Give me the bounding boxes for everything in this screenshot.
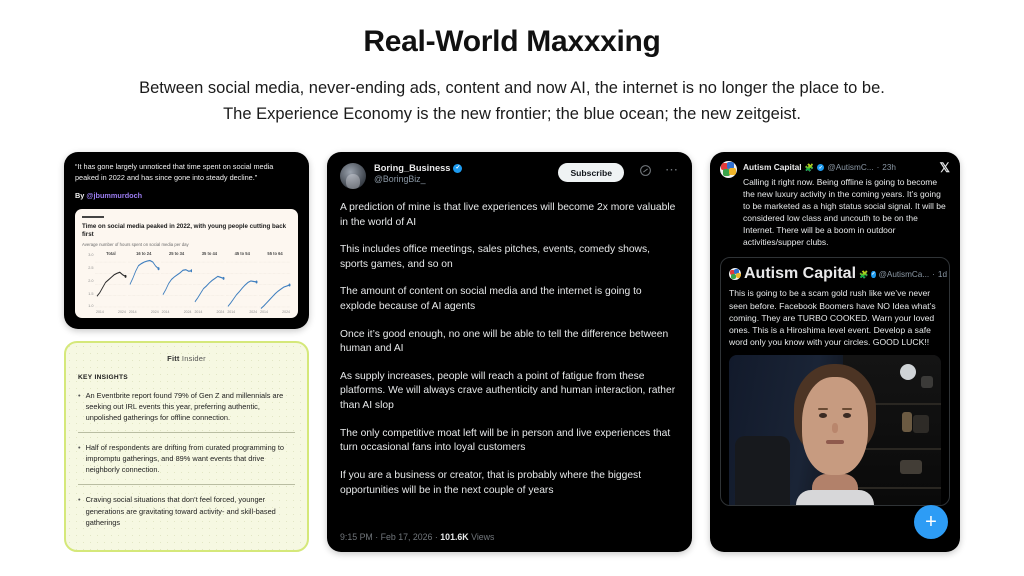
chart-subtitle: Average number of hours spent on social … bbox=[82, 242, 291, 247]
person bbox=[786, 361, 884, 505]
y-tick-1: 2.5 bbox=[88, 266, 93, 270]
compose-fab-button[interactable]: + bbox=[914, 505, 948, 539]
panel-title: Total bbox=[95, 251, 127, 258]
x-tick-end: 2024 bbox=[151, 310, 159, 314]
puzzle-piece-icon: 🧩 bbox=[805, 163, 814, 172]
x-tick-start: 2014 bbox=[194, 310, 202, 314]
tweet-date: Feb 17, 2026 bbox=[381, 532, 433, 542]
eye bbox=[819, 413, 827, 418]
shelf-object bbox=[913, 415, 929, 433]
dot-sep: · bbox=[932, 270, 935, 279]
right-tweet-author-block: Autism Capital 🧩 ✓ @AutismC... · 23h 𝕏 C… bbox=[743, 161, 950, 248]
tweet-paragraph: This includes office meetings, sales pit… bbox=[340, 243, 679, 272]
byline-handle[interactable]: @jbummurdoch bbox=[86, 191, 142, 200]
chart-panel-55-64: 55 to 64 bbox=[259, 251, 291, 314]
y-tick-4: 1.0 bbox=[88, 304, 93, 308]
eyebrow bbox=[842, 408, 852, 411]
panel-title: 55 to 64 bbox=[259, 251, 291, 258]
header: Real-World Maxxxing Between social media… bbox=[0, 0, 1024, 127]
verified-badge-icon: ✓ bbox=[871, 271, 875, 279]
avatar-piece bbox=[729, 168, 736, 175]
panel-plot bbox=[128, 258, 160, 309]
x-tick-start: 2014 bbox=[162, 310, 170, 314]
shelf-object bbox=[900, 364, 916, 380]
chart-panel-35-44: 35 to 44 bbox=[193, 251, 225, 314]
tweet-paragraph: As supply increases, people will reach a… bbox=[340, 370, 679, 414]
chart-title: Time on social media peaked in 2022, wit… bbox=[82, 223, 291, 239]
insight-bullet: • Half of respondents are drifting from … bbox=[78, 442, 295, 475]
avatar-piece bbox=[736, 273, 741, 278]
panel-plot bbox=[226, 258, 258, 309]
tweet-paragraph: The amount of content on social media an… bbox=[340, 285, 679, 314]
puzzle-piece-icon: 🧩 bbox=[859, 270, 868, 279]
subtitle-line-2: The Experience Economy is the new fronti… bbox=[0, 102, 1024, 128]
brand-bold: Fitt bbox=[167, 354, 179, 363]
x-tick-end: 2024 bbox=[217, 310, 225, 314]
y-tick-0: 3.0 bbox=[88, 253, 93, 257]
insight-text: An Eventbrite report found 79% of Gen Z … bbox=[86, 390, 295, 423]
chair bbox=[735, 436, 790, 505]
panel-x-labels: 2014 2024 bbox=[128, 309, 160, 314]
panel-plot bbox=[259, 258, 291, 309]
media-scene bbox=[729, 355, 941, 505]
panel-x-labels: 2014 2024 bbox=[259, 309, 291, 314]
x-tick-end: 2024 bbox=[118, 310, 126, 314]
tweet-paragraph: The only competitive moat left will be i… bbox=[340, 427, 679, 456]
panel-x-labels: 2014 2024 bbox=[226, 309, 258, 314]
fitt-insider-brand: Fitt Insider bbox=[78, 354, 295, 363]
bullet-dot-icon: • bbox=[78, 442, 81, 475]
chart-panel-16-24: 16 to 24 bbox=[128, 251, 160, 314]
tweet-paragraph: Once it’s good enough, no one will be ab… bbox=[340, 328, 679, 357]
x-tick-end: 2024 bbox=[184, 310, 192, 314]
tweet-body: A prediction of mine is that live experi… bbox=[340, 201, 679, 528]
tweet-header: Boring_Business ✓ @BoringBiz_ Subscribe … bbox=[340, 163, 679, 189]
dot-sep: · bbox=[877, 163, 880, 173]
byline-prefix: By bbox=[75, 191, 84, 200]
panel-x-labels: 2014 2024 bbox=[95, 309, 127, 314]
brand-light: Insider bbox=[182, 354, 206, 363]
x-tick-end: 2024 bbox=[249, 310, 257, 314]
right-tweet-handle: @AutismC... bbox=[827, 163, 873, 173]
avatar[interactable] bbox=[729, 268, 741, 280]
quote-chart-card: “It has gone largely unnoticed that time… bbox=[64, 152, 309, 329]
chart-panel-25-34: 25 to 34 bbox=[161, 251, 193, 314]
panel-plot bbox=[193, 258, 225, 309]
shirt bbox=[796, 490, 874, 506]
left-column: “It has gone largely unnoticed that time… bbox=[64, 152, 309, 552]
nose bbox=[832, 423, 839, 433]
panel-plot bbox=[95, 258, 127, 309]
chart-panel-45-54: 45 to 54 bbox=[226, 251, 258, 314]
panel-title: 35 to 44 bbox=[193, 251, 225, 258]
panel-x-labels: 2014 2024 bbox=[193, 309, 225, 314]
right-tweet-header: Autism Capital 🧩 ✓ @AutismC... · 23h 𝕏 C… bbox=[720, 161, 950, 248]
key-insights-label: KEY INSIGHTS bbox=[78, 374, 295, 381]
subtitle-line-1: Between social media, never-ending ads, … bbox=[0, 76, 1024, 102]
shelf-object bbox=[921, 376, 933, 388]
insight-bullet: • An Eventbrite report found 79% of Gen … bbox=[78, 390, 295, 423]
page-title: Real-World Maxxxing bbox=[0, 24, 1024, 60]
panel-x-labels: 2014 2024 bbox=[161, 309, 193, 314]
chart-panel: Time on social media peaked in 2022, wit… bbox=[75, 209, 298, 318]
right-tweet-name-row: Autism Capital 🧩 ✓ @AutismC... · 23h 𝕏 bbox=[743, 161, 950, 174]
slide-root: Real-World Maxxxing Between social media… bbox=[0, 0, 1024, 576]
verified-badge-icon: ✓ bbox=[817, 164, 825, 172]
insight-text: Half of respondents are drifting from cu… bbox=[86, 442, 295, 475]
tweet-paragraph: A prediction of mine is that live experi… bbox=[340, 201, 679, 230]
x-tick-start: 2014 bbox=[96, 310, 104, 314]
avatar[interactable] bbox=[340, 163, 366, 189]
shelf-object bbox=[902, 412, 912, 432]
quoted-display-name: Autism Capital bbox=[744, 265, 856, 283]
quoted-media-video[interactable] bbox=[729, 355, 941, 505]
mouth bbox=[826, 440, 843, 444]
fitt-insider-card: Fitt Insider KEY INSIGHTS • An Eventbrit… bbox=[64, 341, 309, 552]
panel-plot bbox=[161, 258, 193, 309]
panel-title: 25 to 34 bbox=[161, 251, 193, 258]
chart-rule bbox=[82, 216, 104, 218]
shelf-object bbox=[900, 460, 922, 474]
insight-text: Craving social situations that don’t fee… bbox=[86, 494, 295, 527]
quoted-tweet[interactable]: Autism Capital 🧩 ✓ @AutismCa... · 1d Thi… bbox=[720, 257, 950, 506]
x-logo-icon[interactable]: 𝕏 bbox=[936, 161, 950, 174]
face bbox=[802, 377, 868, 475]
right-tweet-card: Autism Capital 🧩 ✓ @AutismC... · 23h 𝕏 C… bbox=[710, 152, 960, 552]
insight-bullet: • Craving social situations that don’t f… bbox=[78, 494, 295, 527]
avatar[interactable] bbox=[720, 161, 737, 178]
tweet-display-name-row: Boring_Business ✓ bbox=[374, 163, 550, 173]
tweet-views-label: Views bbox=[471, 532, 494, 542]
grok-icon[interactable] bbox=[638, 163, 653, 178]
chart-panel-total: Total bbox=[95, 251, 127, 314]
tweet-paragraph: If you are a business or creator, that i… bbox=[340, 469, 679, 498]
panel-title: 16 to 24 bbox=[128, 251, 160, 258]
insight-divider bbox=[78, 484, 295, 485]
middle-tweet-card: Boring_Business ✓ @BoringBiz_ Subscribe … bbox=[327, 152, 692, 552]
verified-badge-icon: ✓ bbox=[453, 164, 462, 173]
x-tick-start: 2014 bbox=[227, 310, 235, 314]
chart-y-axis: 3.0 2.5 2.0 1.5 1.0 bbox=[82, 251, 95, 309]
panel-title: 45 to 54 bbox=[226, 251, 258, 258]
subscribe-button[interactable]: Subscribe bbox=[558, 163, 624, 182]
quoted-text: This is going to be a scam gold rush lik… bbox=[729, 287, 941, 348]
x-tick-end: 2024 bbox=[282, 310, 290, 314]
quote-text: “It has gone largely unnoticed that time… bbox=[75, 162, 298, 183]
insight-divider bbox=[78, 432, 295, 433]
bullet-dot-icon: • bbox=[78, 494, 81, 527]
tweet-meta: 9:15 PM · Feb 17, 2026 · 101.6K Views bbox=[340, 528, 679, 542]
quote-byline: By @jbummurdoch bbox=[75, 191, 298, 200]
quoted-tweet-header: Autism Capital 🧩 ✓ @AutismCa... · 1d bbox=[729, 265, 941, 283]
right-tweet-text: Calling it right now. Being offline is g… bbox=[743, 176, 950, 248]
quoted-timestamp: 1d bbox=[938, 270, 947, 279]
tweet-views-count: 101.6K bbox=[440, 532, 468, 542]
quoted-handle: @AutismCa... bbox=[879, 270, 930, 279]
y-tick-3: 1.5 bbox=[88, 292, 93, 296]
eyebrow bbox=[818, 408, 828, 411]
x-tick-start: 2014 bbox=[260, 310, 268, 314]
tweet-display-name: Boring_Business bbox=[374, 163, 450, 173]
cards-row: “It has gone largely unnoticed that time… bbox=[0, 152, 1024, 552]
eye bbox=[843, 413, 851, 418]
chart-plot-area: 3.0 2.5 2.0 1.5 1.0 Total bbox=[82, 251, 291, 314]
chart-small-multiples: Total bbox=[95, 251, 291, 314]
right-tweet-display-name: Autism Capital bbox=[743, 162, 802, 172]
more-options-icon[interactable]: ⋯ bbox=[665, 163, 679, 176]
right-tweet-timestamp: 23h bbox=[882, 163, 896, 173]
tweet-author-block: Boring_Business ✓ @BoringBiz_ bbox=[374, 163, 550, 184]
bullet-dot-icon: • bbox=[78, 390, 81, 423]
x-tick-start: 2014 bbox=[129, 310, 137, 314]
page-subtitle: Between social media, never-ending ads, … bbox=[0, 76, 1024, 127]
tweet-time: 9:15 PM bbox=[340, 532, 373, 542]
y-tick-2: 2.0 bbox=[88, 279, 93, 283]
tweet-handle: @BoringBiz_ bbox=[374, 174, 550, 184]
